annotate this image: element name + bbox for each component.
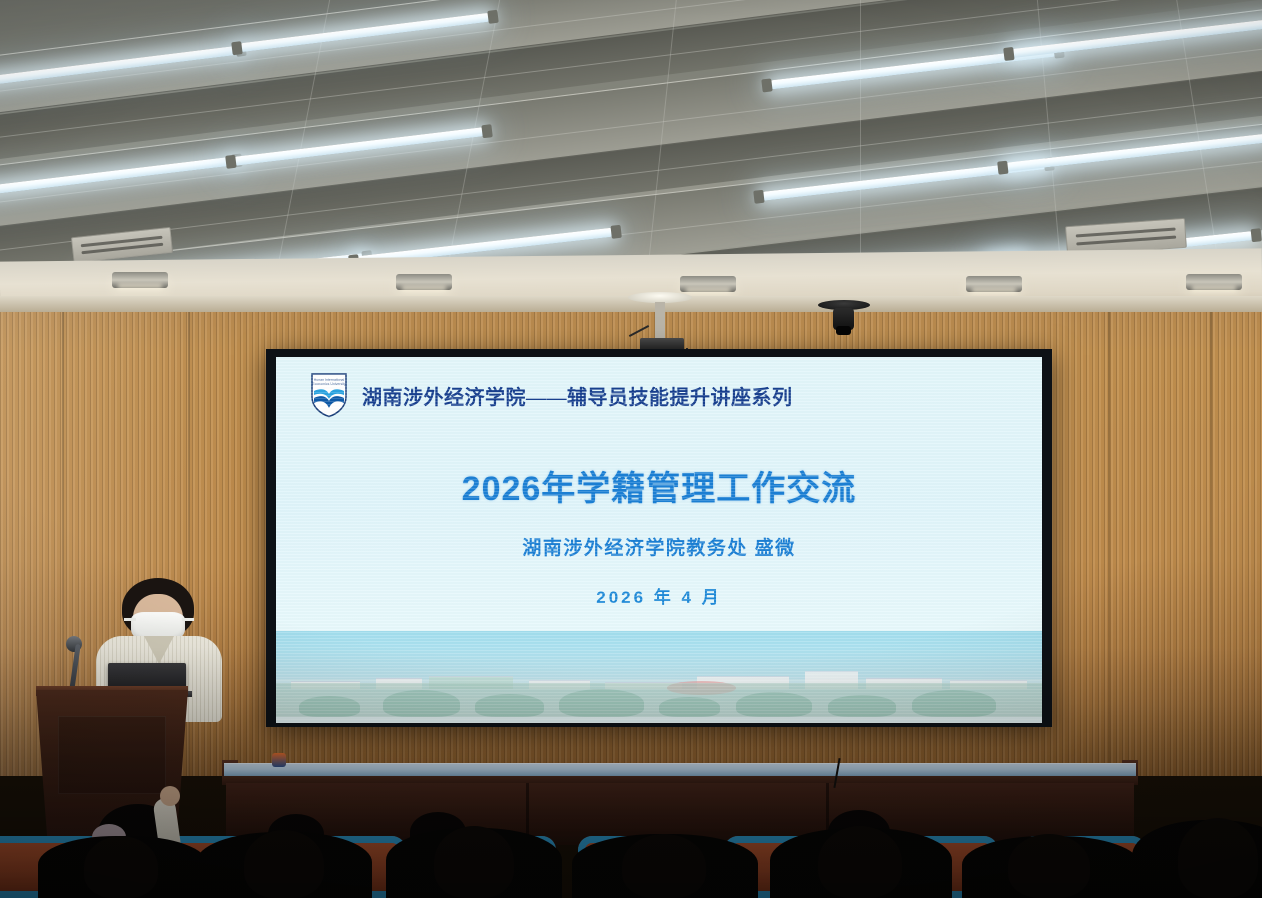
wall-panel-seam — [1108, 296, 1110, 776]
lecture-hall-photo: Hunan International Economics University… — [0, 0, 1262, 898]
slide-date: 2026 年 4 月 — [276, 583, 1042, 608]
slide-header-text: 湖南涉外经济学院——辅导员技能提升讲座系列 — [362, 381, 793, 410]
slide-title: 2026年学籍管理工作交流 — [276, 461, 1042, 510]
svg-text:Economics University: Economics University — [312, 382, 346, 386]
podium-front-panel — [58, 716, 166, 794]
slide-header: Hunan International Economics University… — [310, 372, 793, 418]
university-shield-logo-icon: Hunan International Economics University — [310, 372, 348, 418]
audience-head — [818, 826, 902, 898]
table-item — [272, 753, 286, 767]
audience-head — [1008, 834, 1090, 898]
audience-head — [1178, 818, 1258, 898]
projection-screen: Hunan International Economics University… — [266, 349, 1052, 727]
mask-ear-loop — [182, 618, 194, 621]
audience-head — [434, 826, 514, 898]
panorama-overlay — [276, 631, 1042, 717]
audience-hand — [160, 786, 180, 806]
recessed-downlight — [396, 274, 452, 290]
recessed-downlight — [1186, 274, 1242, 290]
audience-rows — [0, 798, 1262, 898]
camera-lens — [836, 326, 851, 335]
svg-text:Hunan International: Hunan International — [314, 378, 345, 382]
presentation-slide: Hunan International Economics University… — [276, 357, 1042, 723]
recessed-downlight — [680, 276, 736, 292]
wall-panel-seam — [1210, 296, 1212, 776]
audience-head — [84, 836, 158, 898]
mask-ear-loop — [124, 618, 136, 621]
recessed-downlight — [966, 276, 1022, 292]
campus-panorama-image — [276, 631, 1042, 717]
audience-head — [244, 830, 324, 898]
slide-subtitle: 湖南涉外经济学院教务处 盛微 — [276, 533, 1042, 560]
recessed-downlight — [112, 272, 168, 288]
projector-mount-pole — [655, 302, 665, 340]
audience-head — [622, 834, 706, 898]
